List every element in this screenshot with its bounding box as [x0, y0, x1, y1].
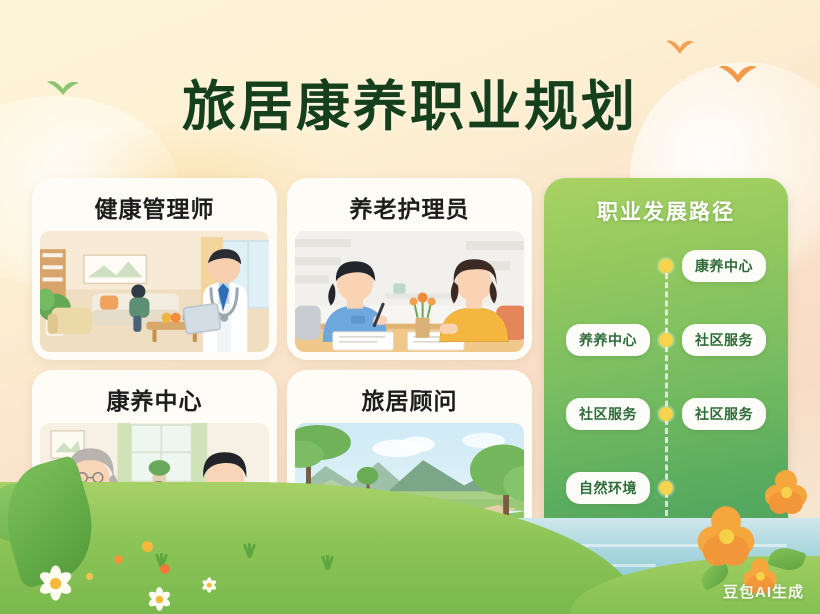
- meadow-flower: [114, 555, 123, 564]
- timeline-pill-left[interactable]: 自然环境: [566, 472, 650, 504]
- card-title: 养老护理员: [295, 184, 524, 231]
- card-wellness-center[interactable]: 康养中心: [32, 370, 277, 552]
- timeline-dot: [659, 407, 673, 421]
- meadow-flower: [160, 564, 170, 574]
- watermark: 豆包AI生成: [723, 581, 804, 602]
- timeline-pill-right[interactable]: 社区服务: [682, 324, 766, 356]
- career-path-panel: 职业发展路径 康养中心 养养中心: [544, 178, 788, 552]
- timeline-row: 养养中心 社区服务: [544, 326, 788, 354]
- content-area: 健康管理师: [32, 178, 788, 552]
- card-residential-advisor[interactable]: 旅居顾问: [287, 370, 532, 552]
- countryside-landscape-illustration: [295, 423, 524, 544]
- card-elderly-care-worker[interactable]: 养老护理员: [287, 178, 532, 360]
- poster-canvas: 旅居康养职业规划 健康管理师: [0, 0, 820, 614]
- page-title: 旅居康养职业规划: [0, 62, 820, 141]
- timeline-dot: [659, 333, 673, 347]
- daisy-flower: [202, 578, 216, 592]
- grass-tuft: [150, 552, 170, 568]
- card-title: 康养中心: [40, 376, 269, 423]
- family-at-table-illustration: [40, 423, 269, 544]
- timeline-dot: [659, 259, 673, 273]
- timeline-pill-right[interactable]: 社区服务: [682, 398, 766, 430]
- timeline-dot: [659, 481, 673, 495]
- card-health-manager[interactable]: 健康管理师: [32, 178, 277, 360]
- doctor-in-living-room-illustration: [40, 231, 269, 352]
- panel-title: 职业发展路径: [558, 196, 774, 226]
- timeline-row: 社区服务 社区服务: [544, 400, 788, 428]
- career-timeline: 康养中心 养养中心 社区服务 社区服务: [544, 252, 788, 522]
- job-cards-grid: 健康管理师: [32, 178, 532, 552]
- meadow-flower: [86, 573, 93, 580]
- bird-orange-small-icon: [665, 38, 695, 61]
- grass-tuft: [316, 554, 336, 570]
- card-title: 健康管理师: [40, 184, 269, 231]
- timeline-row: 自然环境: [544, 474, 788, 502]
- daisy-flower: [39, 567, 72, 600]
- timeline-pill-right[interactable]: 康养中心: [682, 250, 766, 282]
- timeline-pill-left[interactable]: 养养中心: [566, 324, 650, 356]
- timeline-pill-left[interactable]: 社区服务: [566, 398, 650, 430]
- card-title: 旅居顾问: [295, 376, 524, 423]
- caregiver-with-elderly-woman-illustration: [295, 231, 524, 352]
- timeline-row: 康养中心: [544, 252, 788, 280]
- daisy-flower: [148, 588, 170, 610]
